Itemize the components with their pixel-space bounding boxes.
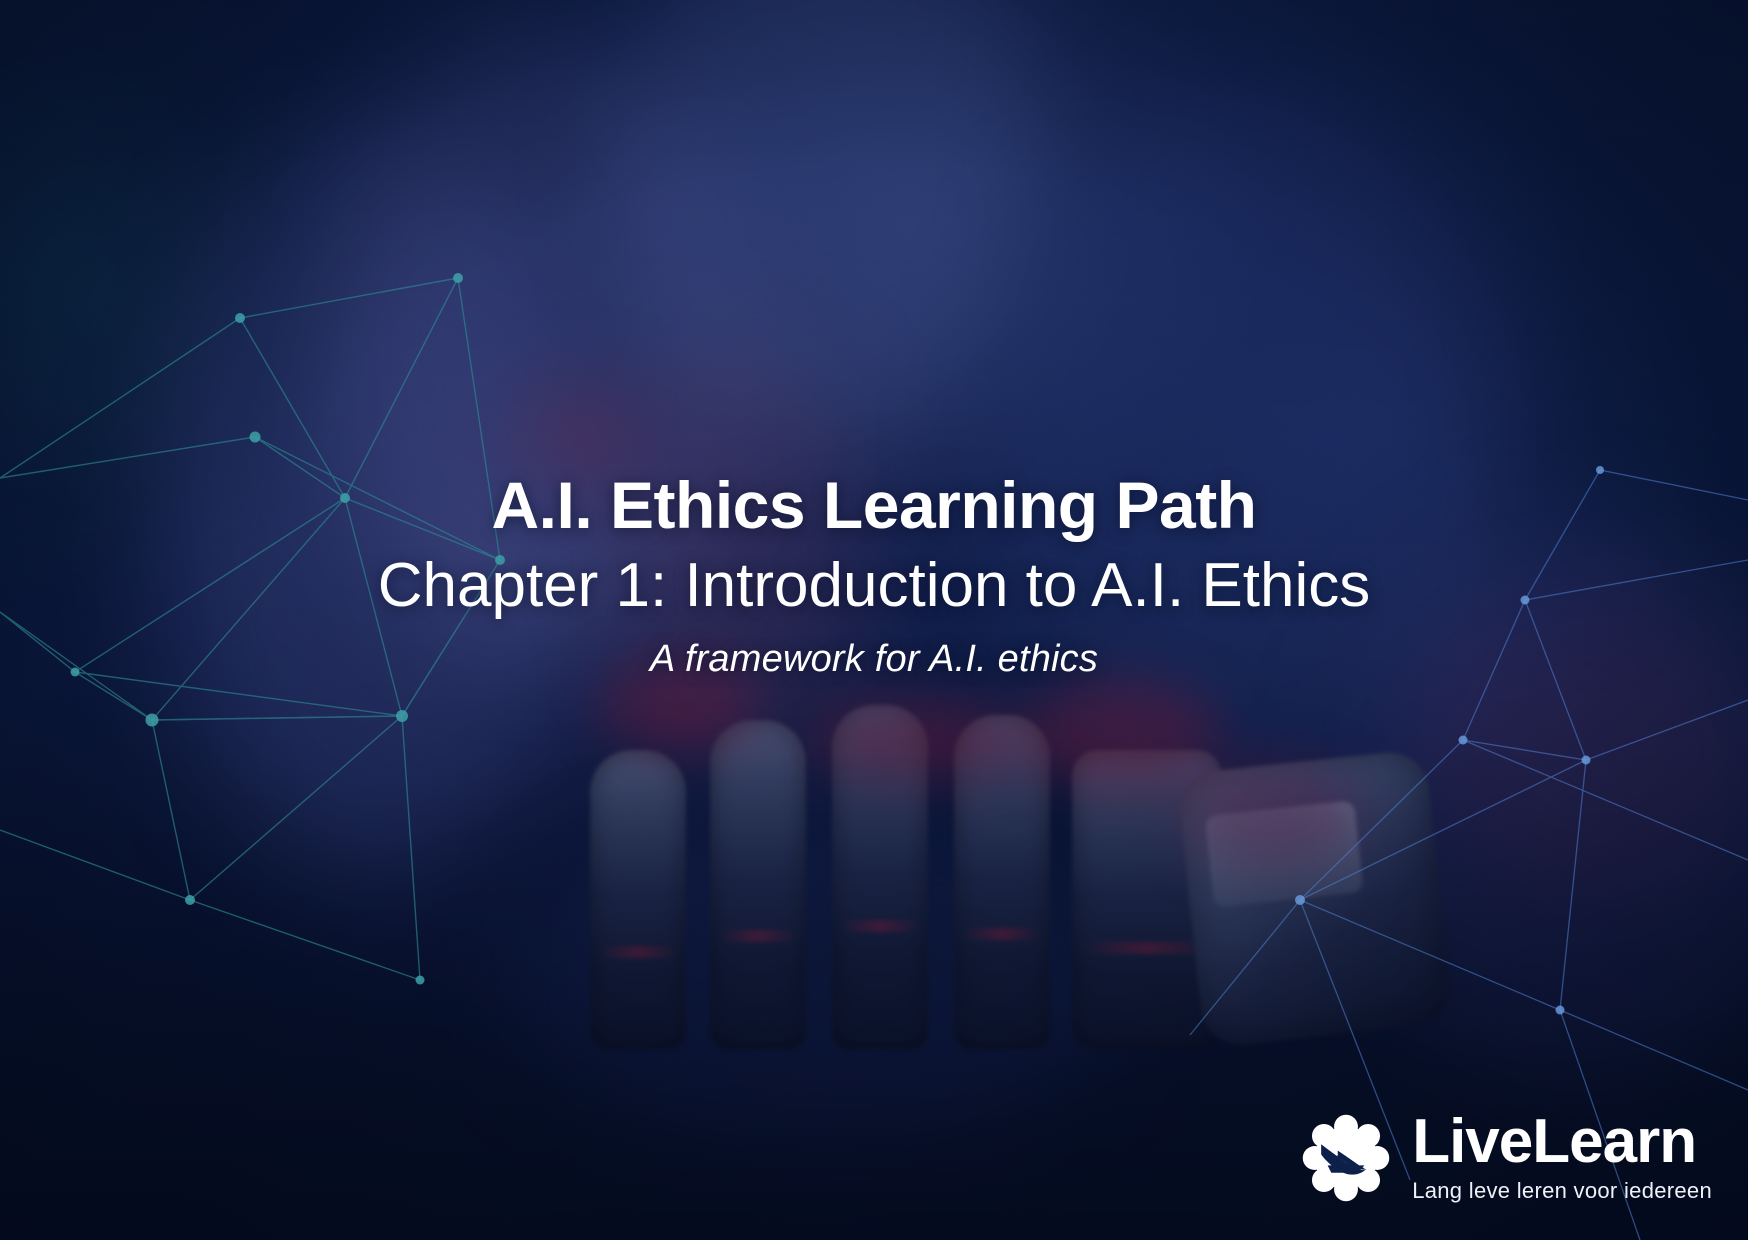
slide-content: A.I. Ethics Learning Path Chapter 1: Int…	[0, 0, 1748, 1240]
chapter-subtitle: Chapter 1: Introduction to A.I. Ethics	[0, 549, 1748, 622]
title-block: A.I. Ethics Learning Path Chapter 1: Int…	[0, 470, 1748, 681]
brand-logo: LiveLearn Lang leve leren voor iedereen	[1300, 1112, 1712, 1204]
brand-name: LiveLearn	[1412, 1112, 1696, 1172]
brand-logo-text: LiveLearn Lang leve leren voor iedereen	[1412, 1112, 1712, 1204]
livelearn-scalloped-badge-icon	[1300, 1112, 1392, 1204]
title-slide: A.I. Ethics Learning Path Chapter 1: Int…	[0, 0, 1748, 1240]
brand-tagline: Lang leve leren voor iedereen	[1412, 1178, 1712, 1204]
page-title: A.I. Ethics Learning Path	[0, 470, 1748, 541]
slide-tagline: A framework for A.I. ethics	[0, 638, 1748, 681]
